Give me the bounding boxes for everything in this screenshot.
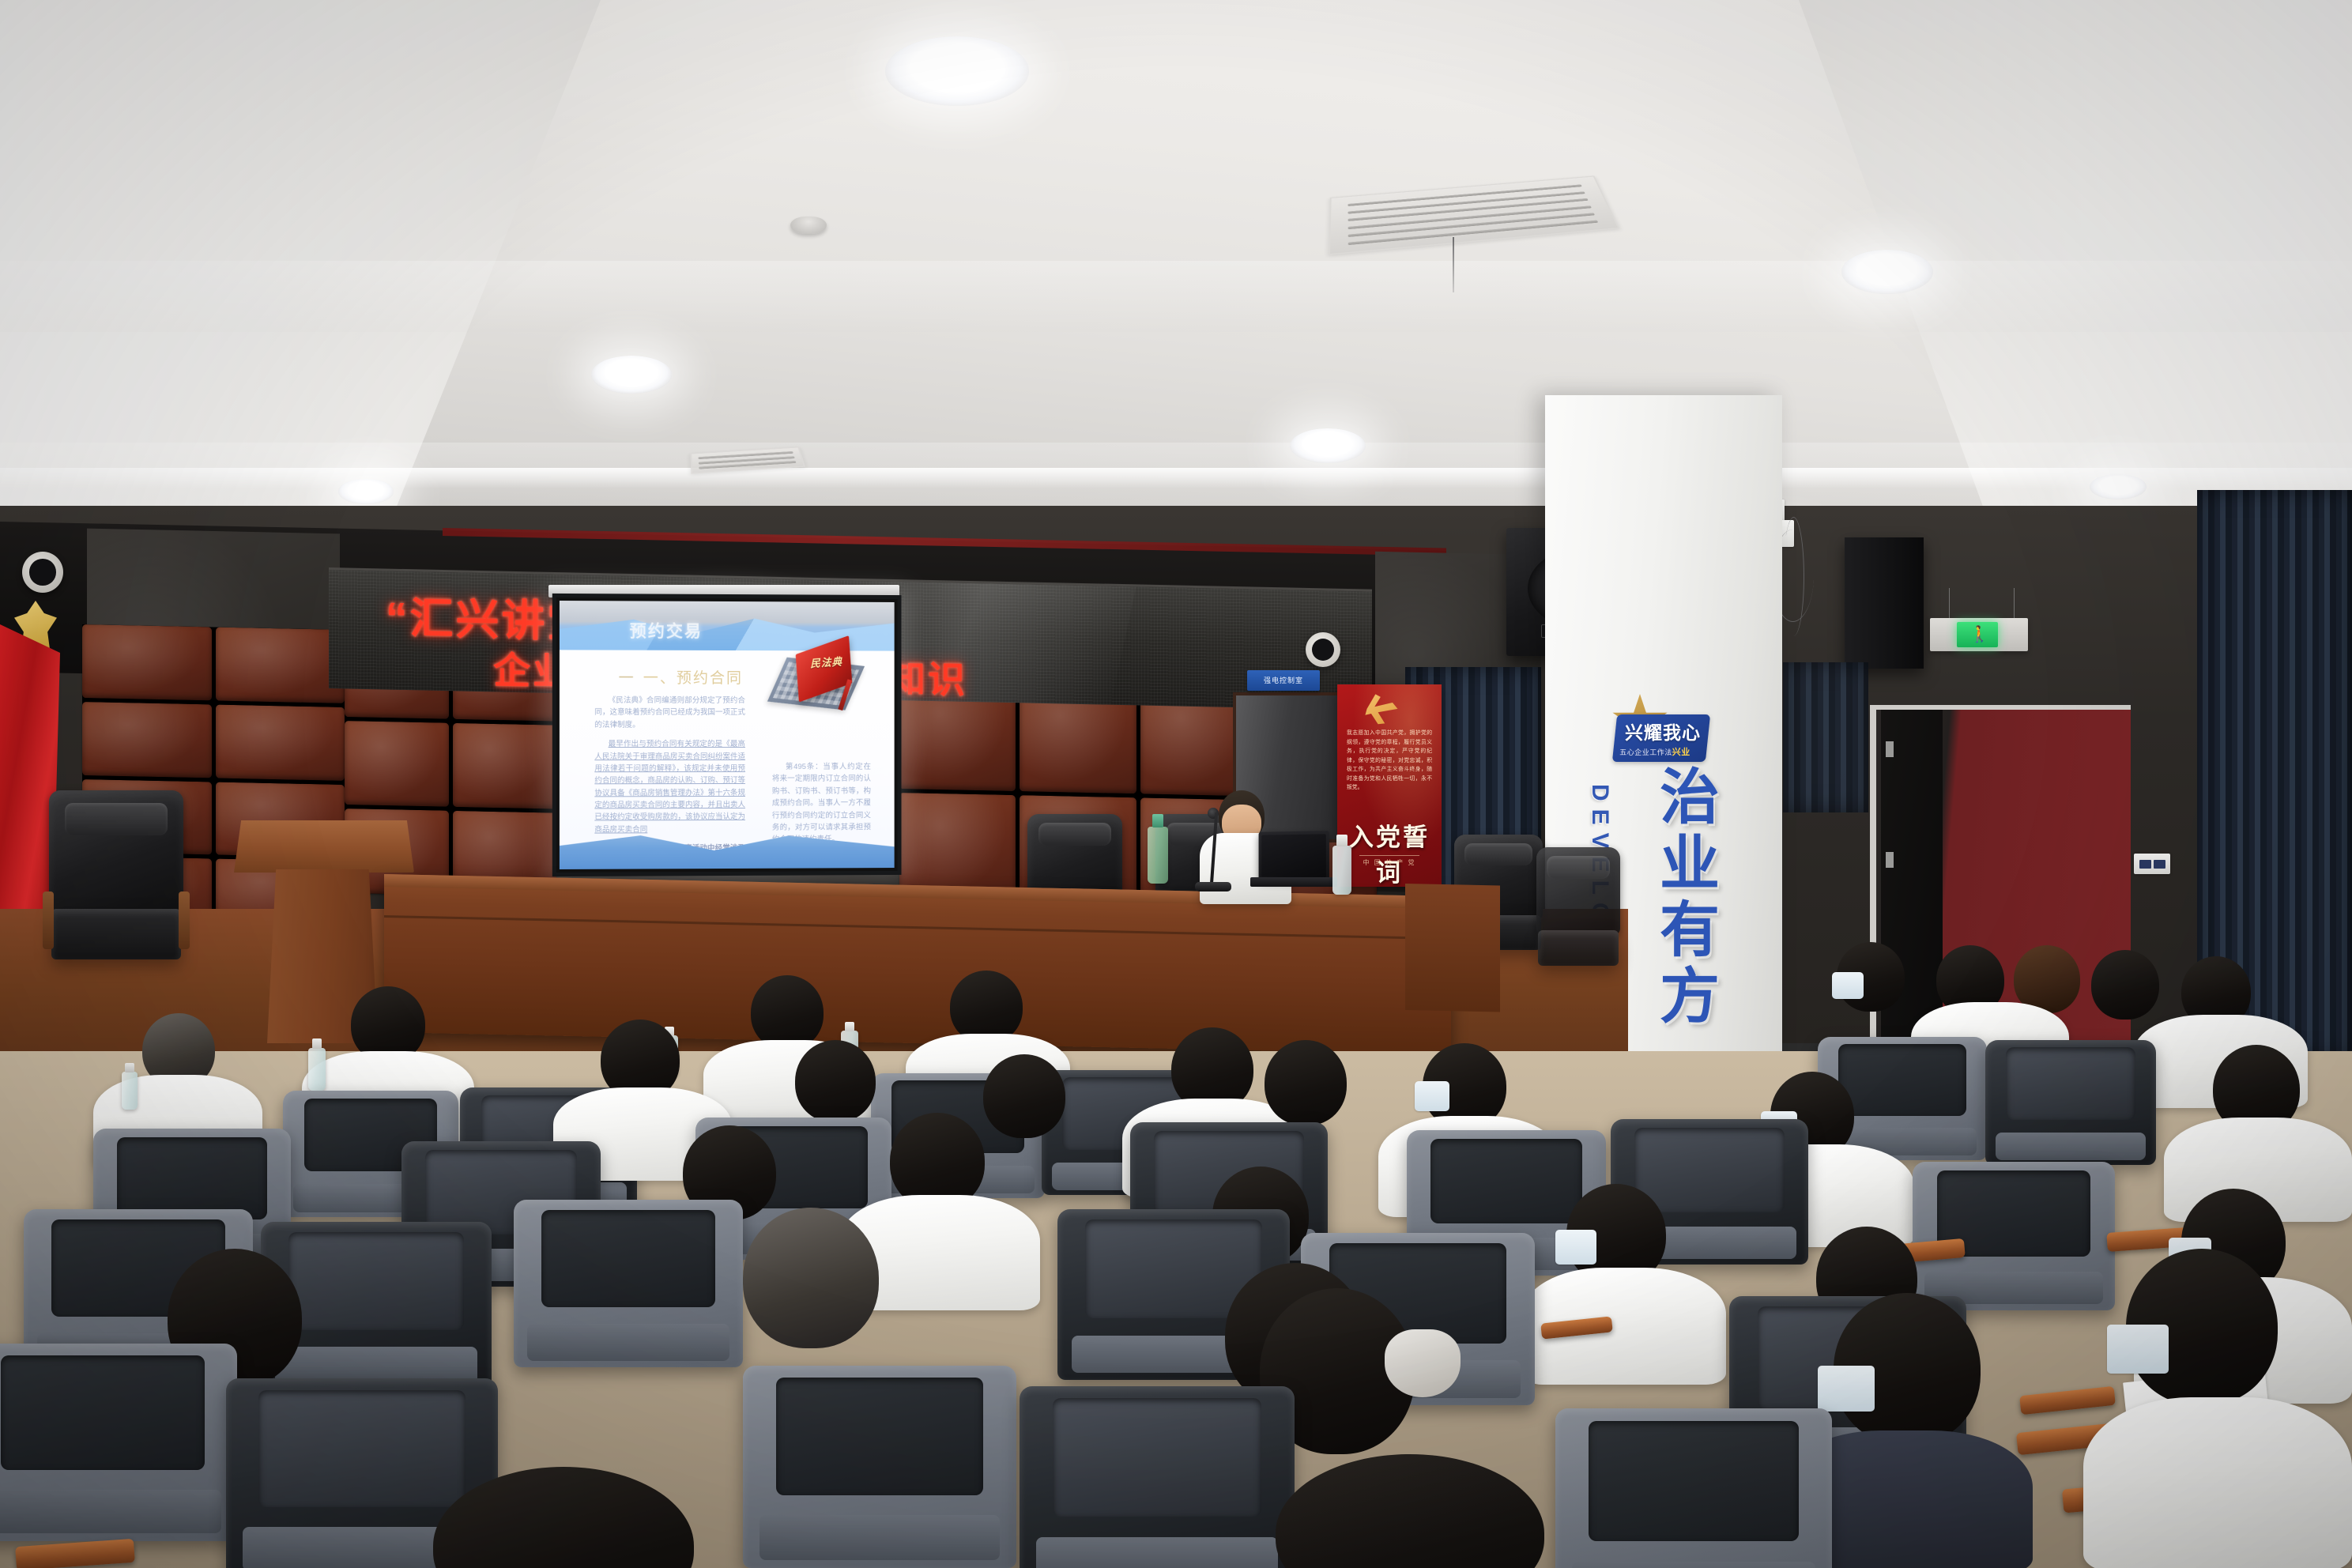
column-slogan-blue: 治业有方 <box>1640 765 1727 1031</box>
audience-seat[interactable] <box>1985 1040 2156 1165</box>
face-mask <box>1832 972 1864 999</box>
ceiling-downlight <box>1841 250 1933 294</box>
ceiling-downlight <box>885 36 1029 106</box>
water-bottle-clear <box>1332 846 1351 895</box>
logo-chinese-text: 兴耀我心 <box>1625 718 1701 744</box>
water-bottle-green <box>1148 827 1168 884</box>
exit-sign-wire <box>1949 588 1950 620</box>
person-head <box>433 1467 694 1568</box>
running-man-icon: 🚶 <box>1969 625 1981 644</box>
slide-subtitle-dash: 一 <box>619 670 635 687</box>
slide-subtitle: 一一、预约合同 <box>619 666 743 688</box>
audience-seat[interactable] <box>1020 1386 1295 1568</box>
slide-paragraph-1: 《民法典》合同编通则部分规定了预约合同，这意味着预约合同已经成为我国一项正式的法… <box>594 695 745 731</box>
control-room-sign: 强电控制室 <box>1247 670 1320 691</box>
hammer-sickle-icon <box>1361 691 1404 726</box>
exit-sign-wire-2 <box>2014 588 2015 620</box>
civil-code-book-graphic: 民法典 <box>775 641 871 714</box>
audience-person-foreground <box>433 1467 694 1568</box>
party-oath-subtitle: 中 国 共 产 党 <box>1337 858 1442 867</box>
slide-title: 预约交易 <box>630 618 703 642</box>
audience-person <box>2091 950 2159 1020</box>
water-bottle <box>122 1072 138 1110</box>
logo-small-prefix: 五心企业工作法 <box>1619 748 1672 756</box>
face-mask <box>1555 1230 1596 1265</box>
laptop-base <box>1250 877 1337 887</box>
xingyao-logo: 兴耀我心 五心企业工作法兴业 <box>1607 694 1711 768</box>
audience-person <box>1265 1040 1347 1125</box>
face-mask <box>1415 1081 1449 1111</box>
logo-plate: 兴耀我心 五心企业工作法兴业 <box>1612 714 1710 762</box>
audience-seat[interactable] <box>1555 1408 1832 1568</box>
party-oath-text: 我志愿加入中国共产党，拥护党的纲领，遵守党的章程，履行党员义务，执行党的决定，严… <box>1347 729 1432 793</box>
slide-paragraph-2: 最早作出与预约合同有关规定的是《最高人民法院关于审理商品房买卖合同纠纷案件适用法… <box>594 738 745 836</box>
person-shirt <box>2083 1397 2352 1568</box>
hair-clip-icon <box>1385 1329 1461 1397</box>
audience-person <box>743 1208 879 1348</box>
audience-person <box>2126 1249 2278 1405</box>
person-head <box>1276 1454 1544 1568</box>
emergency-exit-sign: 🚶 <box>1930 618 2028 651</box>
person-head <box>751 975 824 1050</box>
logo-small-accent: 兴业 <box>1672 748 1690 757</box>
audience-person <box>1837 942 1905 1012</box>
stage-chair[interactable] <box>49 790 183 959</box>
microphone-base <box>1195 882 1231 891</box>
ceiling-downlight <box>591 356 672 394</box>
hair-clip <box>1385 1329 1461 1397</box>
bottle-cap <box>1336 835 1347 846</box>
audience-person <box>950 971 1023 1043</box>
conference-hall-photo: “汇兴讲堂”培训班 企业经营法律风险防控知识 预约交易 一一、预约合同 《民法典… <box>0 0 2352 1568</box>
person-head <box>983 1054 1065 1138</box>
face-mask <box>1818 1366 1875 1412</box>
table-seam <box>384 915 1451 940</box>
person-head <box>1265 1040 1347 1125</box>
presenter-laptop[interactable] <box>1259 831 1329 881</box>
speaker-side-panel <box>1845 537 1924 669</box>
audience-seat[interactable] <box>1913 1162 2115 1310</box>
jbl-wall-speaker-right <box>1845 537 1924 669</box>
party-oath-standee: 我志愿加入中国共产党，拥护党的纲领，遵守党的章程，履行党员义务，执行党的决定，严… <box>1337 684 1442 887</box>
stage-chair[interactable] <box>1536 847 1620 966</box>
ceiling-downlight <box>2090 474 2147 499</box>
presentation-slide: 预约交易 一一、预约合同 《民法典》合同编通则部分规定了预约合同，这意味着预约合… <box>560 601 895 869</box>
door-hinge <box>1886 741 1894 757</box>
head-table-right-return <box>1405 884 1500 1012</box>
audience-person <box>983 1054 1065 1138</box>
water-bottle <box>308 1048 326 1091</box>
slide-subtitle-text: 一、预约合同 <box>643 670 743 687</box>
door-hinge <box>1886 852 1894 868</box>
person-head <box>743 1208 879 1348</box>
smoke-detector <box>790 217 827 234</box>
audience-person-foreground <box>1276 1454 1544 1568</box>
audience-person <box>1834 1293 1981 1445</box>
audience-seat[interactable] <box>743 1366 1016 1568</box>
projection-screen: 预约交易 一一、预约合同 《民法典》合同编通则部分规定了预约合同，这意味着预约合… <box>552 594 902 876</box>
slide-article-495-note: 第495条：当事人约定在将来一定期限内订立合同的认购书、订购书、预订书等，构成预… <box>772 761 871 846</box>
curtain-right-small <box>1783 662 1868 812</box>
audience-person <box>795 1040 876 1122</box>
ceiling-band <box>0 261 2352 332</box>
party-oath-title: 入党誓词 <box>1337 817 1442 887</box>
book-label: 民法典 <box>810 653 846 671</box>
hanging-cable-2 <box>1783 517 1804 636</box>
wall-control-panel[interactable] <box>2134 854 2170 874</box>
audience-seat[interactable] <box>514 1200 743 1367</box>
wall-clock-left <box>22 552 63 593</box>
ceiling-downlight <box>338 479 394 504</box>
standee-divider <box>1359 855 1419 856</box>
person-head <box>2091 950 2159 1020</box>
ceiling-downlight <box>1290 428 1366 463</box>
audience-seat[interactable] <box>0 1344 237 1541</box>
person-head <box>795 1040 876 1122</box>
face-mask <box>2107 1325 2169 1374</box>
wall-clock-right <box>1306 632 1340 667</box>
logo-small-text: 五心企业工作法兴业 <box>1619 745 1690 758</box>
audience-person <box>751 975 824 1050</box>
exit-sign-panel: 🚶 <box>1957 622 1998 647</box>
bottle-cap <box>1152 814 1164 827</box>
vent-pull-cord <box>1453 237 1454 292</box>
person-head <box>950 971 1023 1043</box>
podium-top <box>234 820 414 873</box>
